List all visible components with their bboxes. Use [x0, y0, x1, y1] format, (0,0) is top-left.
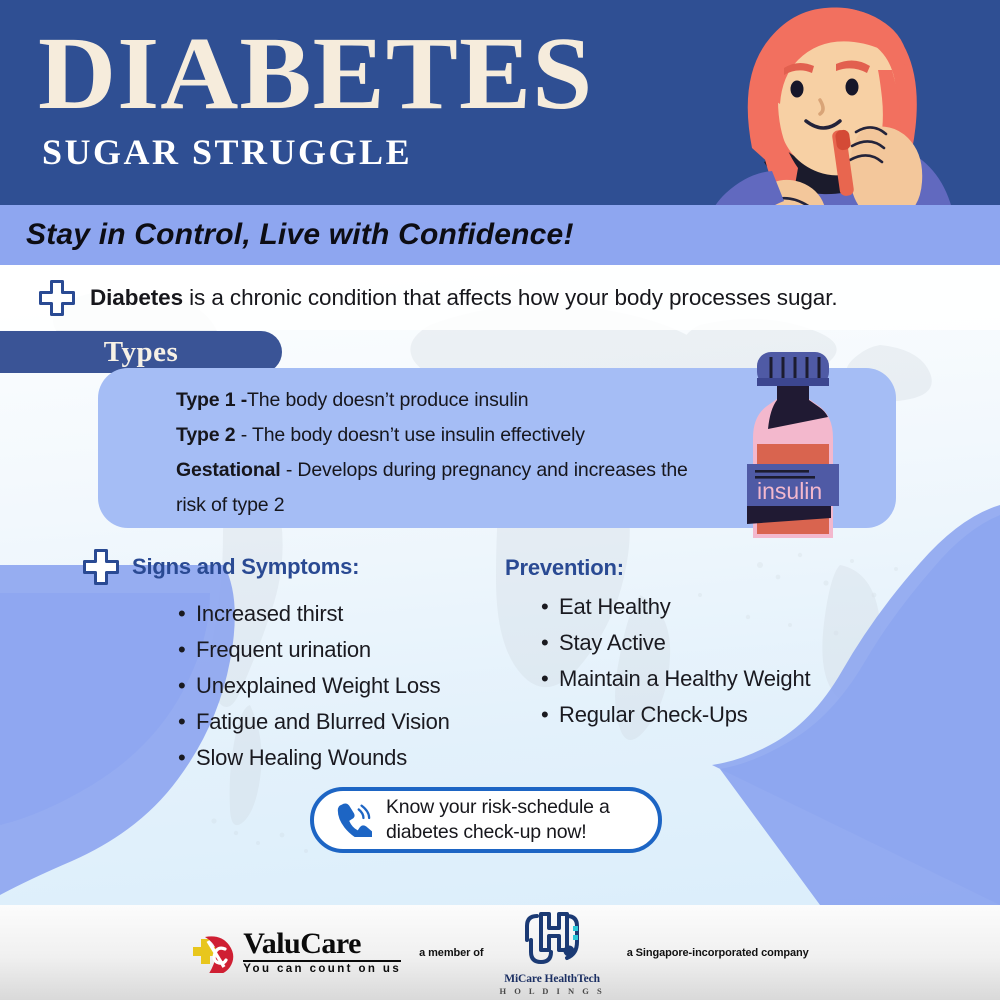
cta-line-1: Know your risk-schedule a: [386, 796, 610, 818]
micare-mark: [513, 910, 591, 972]
member-of-label: a member of: [419, 947, 483, 959]
infographic-poster: DIABETES SUGAR STRUGGLE: [0, 0, 1000, 1000]
header-banner: DIABETES SUGAR STRUGGLE: [0, 0, 1000, 205]
valucare-wordmark: ValuCare You can count on us: [243, 929, 401, 976]
signs-list: Increased thirst Frequent urination Unex…: [178, 596, 450, 776]
insulin-vial-illustration: insulin: [733, 352, 853, 538]
valucare-logo: ValuCare You can count on us: [191, 929, 401, 976]
phone-ringing-icon: [334, 799, 372, 842]
types-item-term: Type 1 -: [176, 389, 247, 411]
types-item-term: Gestational: [176, 459, 281, 481]
cta-text: Know your risk-schedule a diabetes check…: [386, 795, 610, 845]
types-list: Type 1 -The body doesn’t produce insulin…: [176, 383, 776, 523]
list-item: Unexplained Weight Loss: [178, 668, 450, 704]
types-item-desc: - The body doesn’t use insulin effective…: [235, 424, 584, 446]
singapore-incorporated-note: a Singapore-incorporated company: [627, 947, 809, 959]
types-banner: Types: [0, 331, 282, 373]
valucare-name: ValuCare: [243, 929, 401, 962]
list-item: Fatigue and Blurred Vision: [178, 704, 450, 740]
list-item: Stay Active: [541, 625, 810, 661]
intro-rest: is a chronic condition that affects how …: [183, 285, 838, 310]
list-item: Slow Healing Wounds: [178, 740, 450, 776]
types-item-desc: - Develops during pregnancy and increase…: [281, 459, 688, 481]
signs-and-symptoms-section: Signs and Symptoms: Increased thirst Fre…: [82, 548, 450, 776]
prevention-heading-row: Prevention:: [505, 555, 810, 581]
page-title: DIABETES: [38, 22, 593, 126]
types-banner-label: Types: [104, 336, 178, 369]
cta-button[interactable]: Know your risk-schedule a diabetes check…: [310, 787, 662, 853]
valucare-tagline: You can count on us: [243, 964, 401, 976]
intro-row: Diabetes is a chronic condition that aff…: [38, 272, 968, 324]
signs-heading: Signs and Symptoms:: [132, 554, 359, 580]
insulin-label: insulin: [757, 478, 822, 504]
intro-bold-lead: Diabetes: [90, 285, 183, 310]
types-item: Type 1 -The body doesn’t produce insulin: [176, 383, 776, 418]
list-item: Regular Check-Ups: [541, 697, 810, 733]
prevention-section: Prevention: Eat Healthy Stay Active Main…: [505, 555, 810, 733]
medical-cross-icon: [38, 279, 76, 317]
prevention-heading: Prevention:: [505, 555, 624, 581]
tagline-text: Stay in Control, Live with Confidence!: [26, 205, 726, 265]
cta-line-2: diabetes check-up now!: [386, 821, 586, 843]
footer-content: ValuCare You can count on us a member of…: [0, 905, 1000, 1000]
woman-checking-blood-sugar-illustration: [660, 0, 1000, 205]
prevention-list: Eat Healthy Stay Active Maintain a Healt…: [541, 589, 810, 733]
types-item-wrap: risk of type 2: [176, 488, 776, 523]
types-item-desc: The body doesn’t produce insulin: [247, 389, 528, 411]
list-item: Eat Healthy: [541, 589, 810, 625]
types-item: Gestational - Develops during pregnancy …: [176, 453, 776, 488]
micare-holdings: H O L D I N G S: [499, 986, 604, 996]
list-item: Frequent urination: [178, 632, 450, 668]
list-item: Maintain a Healthy Weight: [541, 661, 810, 697]
page-subtitle: SUGAR STRUGGLE: [42, 132, 572, 172]
micare-healthtech-logo: MiCare HealthTech H O L D I N G S: [499, 910, 604, 996]
medical-cross-icon: [82, 548, 120, 586]
types-item-term: Type 2: [176, 424, 235, 446]
micare-name: MiCare HealthTech: [504, 973, 600, 985]
title-block: DIABETES SUGAR STRUGGLE: [38, 22, 572, 172]
signs-heading-row: Signs and Symptoms:: [82, 548, 450, 586]
intro-text: Diabetes is a chronic condition that aff…: [90, 285, 838, 311]
types-item: Type 2 - The body doesn’t use insulin ef…: [176, 418, 776, 453]
list-item: Increased thirst: [178, 596, 450, 632]
valucare-mark: [191, 933, 237, 973]
